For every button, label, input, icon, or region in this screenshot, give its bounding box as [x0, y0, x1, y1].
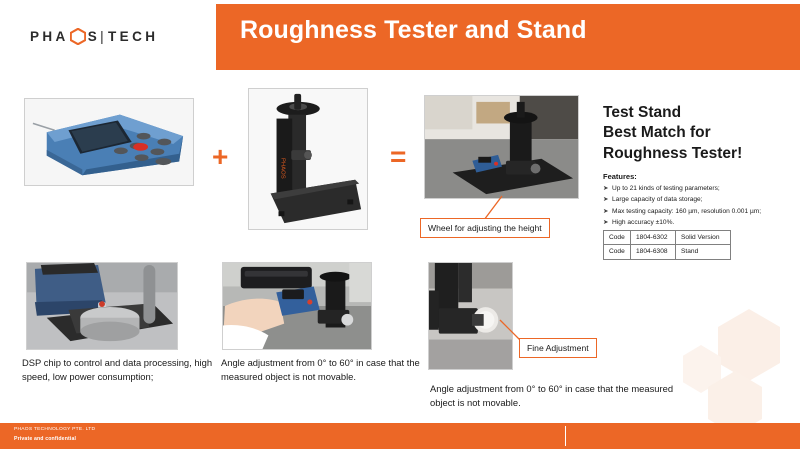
cell-code: 1804-6308	[631, 245, 676, 259]
features-heading: Features:	[603, 172, 637, 181]
product-image-tester	[24, 98, 194, 186]
product-image-dsp	[26, 262, 178, 350]
caption-angle: Angle adjustment from 0° to 60° in case …	[221, 356, 426, 384]
product-image-angle	[222, 262, 372, 350]
cell-description: Stand	[676, 245, 731, 259]
right-panel-title-line2: Best Match for	[603, 123, 793, 143]
callout-fine-adjustment: Fine Adjustment	[519, 338, 597, 358]
slide-root: Roughness Tester and Stand PHA S | TECH	[0, 0, 800, 449]
bullet-icon: ➤	[603, 217, 612, 228]
logo-text-part2: S	[88, 29, 100, 44]
callout-wheel-adjust: Wheel for adjusting the height	[420, 218, 550, 238]
right-panel-title-line3: Roughness Tester!	[603, 144, 793, 164]
feature-item: ➤ High accuracy ±10%.	[603, 217, 799, 228]
cell-code: 1804-6302	[631, 231, 676, 245]
bullet-icon: ➤	[603, 206, 612, 217]
page-title: Roughness Tester and Stand	[240, 16, 587, 45]
svg-text:PHAOS: PHAOS	[279, 158, 285, 179]
logo-text-part1: PHA	[30, 29, 69, 44]
plus-operator: +	[212, 143, 228, 171]
features-list: ➤ Up to 21 kinds of testing parameters; …	[603, 183, 799, 228]
product-image-combo	[424, 95, 579, 199]
footer-company: PHAOS TECHNOLOGY PTE. LTD	[14, 427, 95, 432]
product-image-stand: PHAOS	[248, 88, 368, 230]
feature-text: Max testing capacity: 160 µm, resolution…	[612, 206, 761, 217]
cell-label: Code	[604, 231, 631, 245]
footer-divider	[565, 426, 566, 446]
table-row: Code 1804-6302 Solid Version	[604, 231, 731, 245]
logo-text-part3: TECH	[108, 29, 158, 44]
footer-bar: PHAOS TECHNOLOGY PTE. LTD Private and co…	[0, 423, 800, 449]
watermark-hexagons	[683, 307, 798, 427]
feature-text: High accuracy ±10%.	[612, 217, 674, 228]
cell-description: Solid Version	[676, 231, 731, 245]
feature-item: ➤ Large capacity of data storage;	[603, 194, 799, 205]
feature-text: Large capacity of data storage;	[612, 194, 703, 205]
caption-fine: Angle adjustment from 0° to 60° in case …	[430, 382, 695, 410]
equals-operator: =	[390, 143, 406, 171]
right-panel-title: Test Stand Best Match for Roughness Test…	[603, 103, 793, 164]
bullet-icon: ➤	[603, 183, 612, 194]
logo-divider: |	[100, 29, 107, 44]
right-panel-title-line1: Test Stand	[603, 103, 793, 123]
feature-item: ➤ Max testing capacity: 160 µm, resoluti…	[603, 206, 799, 217]
product-code-table: Code 1804-6302 Solid Version Code 1804-6…	[603, 230, 731, 260]
product-image-fine	[428, 262, 513, 370]
feature-item: ➤ Up to 21 kinds of testing parameters;	[603, 183, 799, 194]
cell-label: Code	[604, 245, 631, 259]
bullet-icon: ➤	[603, 194, 612, 205]
caption-dsp: DSP chip to control and data processing,…	[22, 356, 222, 384]
company-logo: PHA S | TECH	[30, 28, 158, 45]
footer-confidentiality: Private and confidential	[14, 436, 76, 442]
feature-text: Up to 21 kinds of testing parameters;	[612, 183, 720, 194]
table-row: Code 1804-6308 Stand	[604, 245, 731, 259]
hexagon-icon	[70, 28, 86, 45]
